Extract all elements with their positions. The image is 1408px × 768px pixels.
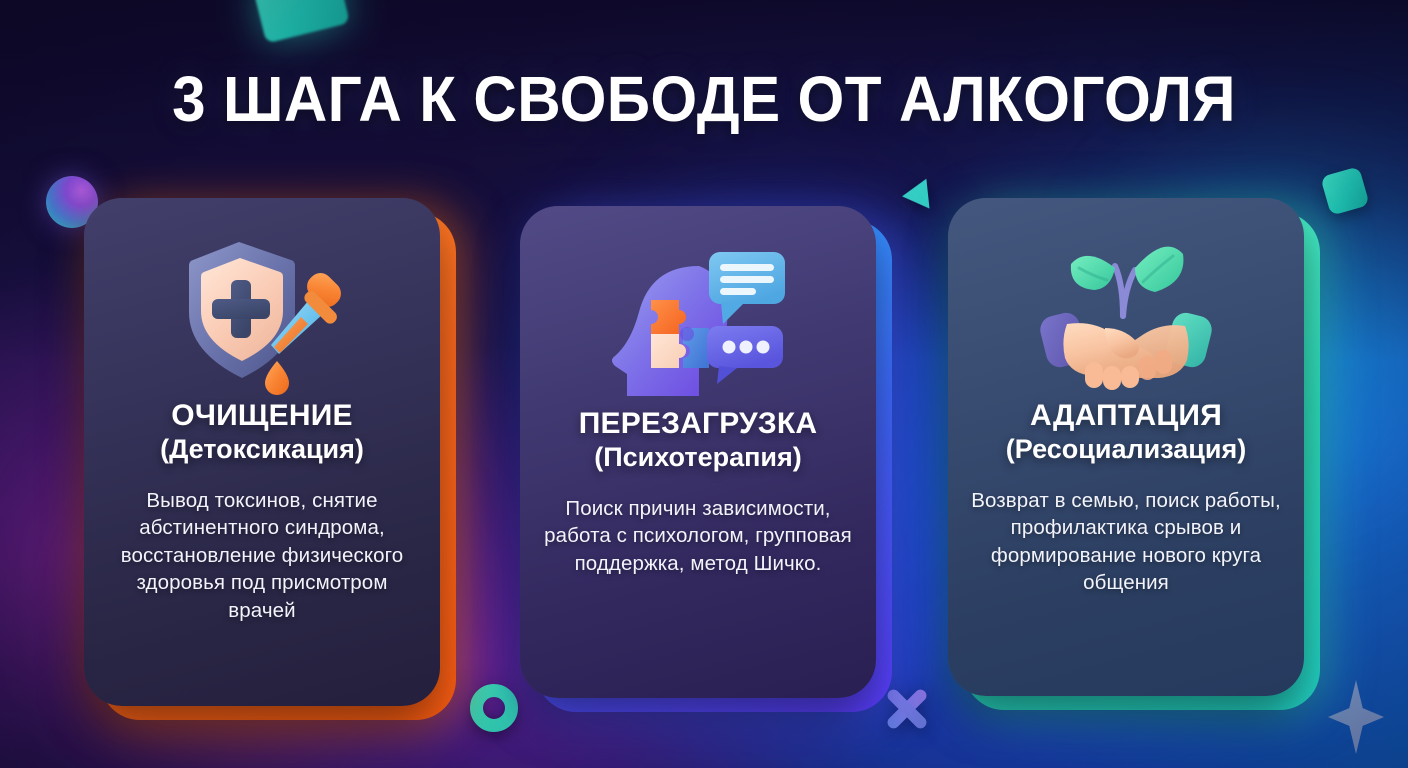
card-2-description: Поиск причин зависимости, работа с психо… <box>542 495 854 577</box>
page-title: 3 ШАГА К СВОБОДЕ ОТ АЛКОГОЛЯ <box>42 62 1366 136</box>
card-3-body: АДАПТАЦИЯ (Ресоциализация) Возврат в сем… <box>948 198 1304 696</box>
step-card-2[interactable]: ПЕРЕЗАГРУЗКА (Психотерапия) Поиск причин… <box>520 206 876 698</box>
card-3-description: Возврат в семью, поиск работы, профилакт… <box>970 487 1282 597</box>
card-1-subtitle: (Детоксикация) <box>160 434 364 464</box>
card-3-title: АДАПТАЦИЯ <box>1030 400 1222 432</box>
card-1-body: ОЧИЩЕНИЕ (Детоксикация) Вывод токсинов, … <box>84 198 440 706</box>
steps-container: ОЧИЩЕНИЕ (Детоксикация) Вывод токсинов, … <box>0 198 1408 718</box>
step-card-1[interactable]: ОЧИЩЕНИЕ (Детоксикация) Вывод токсинов, … <box>84 198 440 706</box>
handshake-sprout-icon <box>970 228 1282 400</box>
card-2-title: ПЕРЕЗАГРУЗКА <box>579 408 818 440</box>
step-card-3[interactable]: АДАПТАЦИЯ (Ресоциализация) Возврат в сем… <box>948 198 1304 696</box>
shield-dropper-icon <box>106 228 418 400</box>
card-2-body: ПЕРЕЗАГРУЗКА (Психотерапия) Поиск причин… <box>520 206 876 698</box>
card-1-description: Вывод токсинов, снятие абстинентного син… <box>106 487 418 624</box>
card-2-subtitle: (Психотерапия) <box>594 442 802 472</box>
card-1-title: ОЧИЩЕНИЕ <box>171 400 352 432</box>
head-puzzle-chat-icon <box>542 236 854 408</box>
card-3-subtitle: (Ресоциализация) <box>1006 434 1246 464</box>
